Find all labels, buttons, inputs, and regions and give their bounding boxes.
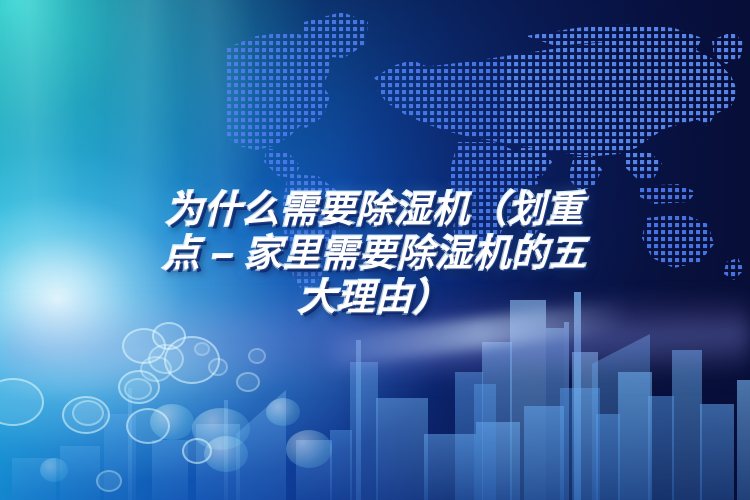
title-line-3: 大理由） (60, 276, 690, 320)
building (524, 406, 564, 500)
bokeh-circle (182, 438, 212, 464)
bokeh-circle (266, 398, 300, 426)
banner-image: 为什么需要除湿机（划重 点 – 家里需要除湿机的五 大理由） (0, 0, 750, 500)
bokeh-circle (40, 458, 68, 482)
title-line-2: 点 – 家里需要除湿机的五 (60, 232, 690, 276)
bokeh-circle (194, 342, 210, 356)
title-line-1: 为什么需要除湿机（划重 (60, 188, 690, 232)
bokeh-circle (236, 372, 260, 392)
building (737, 380, 750, 500)
page-title: 为什么需要除湿机（划重 点 – 家里需要除湿机的五 大理由） (0, 188, 750, 320)
bokeh-circle (96, 470, 122, 492)
building-spire (128, 388, 132, 500)
building (700, 404, 734, 500)
bokeh-circle (72, 400, 104, 426)
bokeh-circle (286, 430, 332, 468)
building (474, 384, 496, 500)
bokeh-circle (140, 356, 172, 382)
bokeh-circle (124, 378, 152, 400)
bokeh-circle (248, 348, 266, 364)
building (330, 430, 352, 500)
bokeh-circle (208, 358, 228, 376)
building (376, 398, 428, 500)
bokeh-circle (150, 404, 194, 440)
building (350, 362, 378, 500)
building (424, 434, 476, 500)
